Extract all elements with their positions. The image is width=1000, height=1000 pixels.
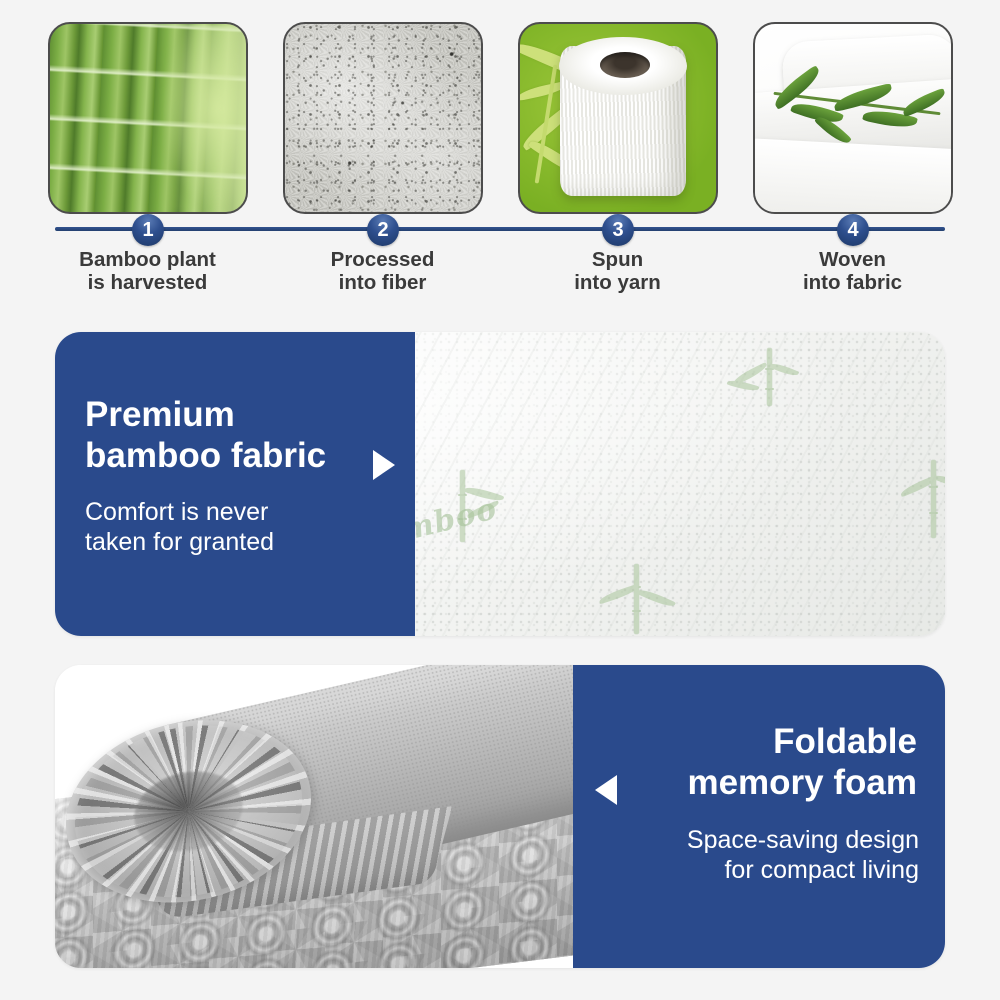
fabric-bamboo-motif	[903, 460, 945, 546]
foam-headline: Foldable memory foam	[687, 721, 917, 804]
step-label-1: Bamboo plant is harvested	[48, 248, 248, 295]
fabric-fold-shape	[753, 138, 953, 214]
fabric-copy-block: Premium bamboo fabric Comfort is never t…	[55, 332, 415, 636]
step-label-2: Processed into fiber	[283, 248, 483, 295]
foam-subline: Space-saving design for compact living	[687, 825, 919, 885]
fabric-bamboo-motif	[450, 470, 520, 550]
timeline-line	[55, 227, 945, 231]
triangle-right-icon	[373, 450, 395, 480]
triangle-left-icon	[595, 775, 617, 805]
step-label-3: Spun into yarn	[518, 248, 718, 295]
fabric-headline: Premium bamboo fabric	[85, 394, 326, 477]
process-thumbnail-3-yarn-spool	[518, 22, 718, 214]
process-thumbnail-1-bamboo-plant	[48, 22, 248, 214]
fabric-subline: Comfort is never taken for granted	[85, 497, 274, 557]
foam-copy-block: Foldable memory foam Space-saving design…	[573, 665, 945, 968]
process-thumbnail-2-fiber	[283, 22, 483, 214]
step-marker-4: 4	[837, 214, 869, 246]
process-label-row: Bamboo plant is harvested Processed into…	[0, 248, 1000, 295]
fabric-bamboo-motif	[600, 564, 680, 636]
step-label-4: Woven into fabric	[753, 248, 953, 295]
spool-core-shape	[600, 52, 650, 78]
yarn-spool-shape	[560, 46, 686, 196]
process-thumbnail-4-woven-fabric	[753, 22, 953, 214]
process-thumbnail-row	[0, 22, 1000, 214]
premium-bamboo-fabric-panel: Bamboo Bamboo Premium bamboo fabric Comf…	[55, 332, 945, 636]
step-marker-1: 1	[132, 214, 164, 246]
process-strip: 1 2 3 4 Bamboo plant is harvested Proces…	[0, 0, 1000, 310]
leaf-shape	[518, 81, 567, 101]
step-marker-3: 3	[602, 214, 634, 246]
foldable-memory-foam-panel: Foldable memory foam Space-saving design…	[55, 665, 945, 968]
step-marker-2: 2	[367, 214, 399, 246]
fabric-bamboo-motif	[725, 348, 795, 426]
